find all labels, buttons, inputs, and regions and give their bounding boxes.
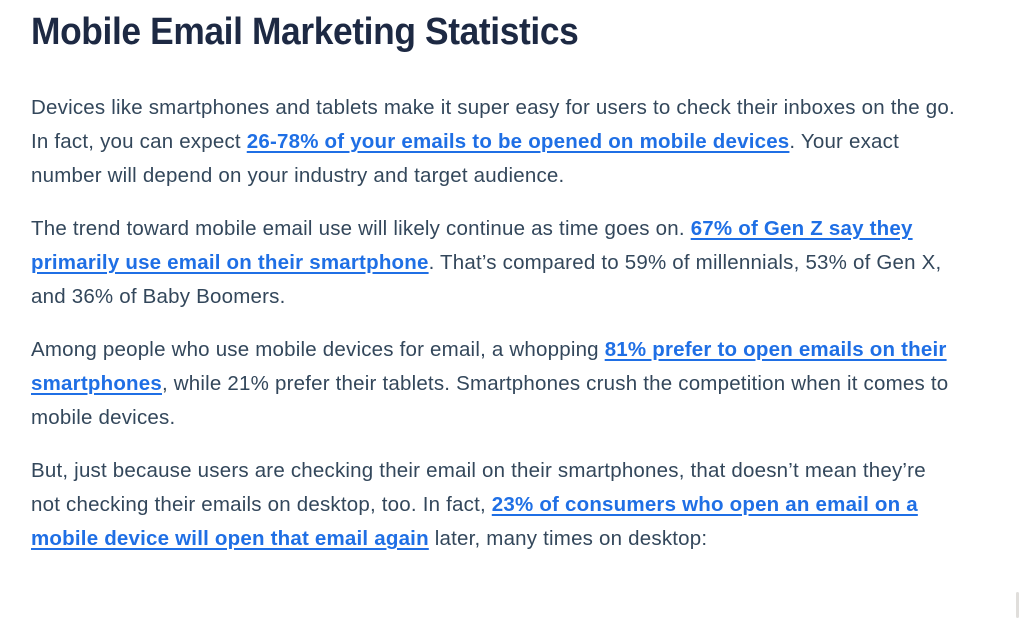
link-mobile-open-rate[interactable]: 26-78% of your emails to be opened on mo…: [247, 130, 790, 153]
paragraph-3-text-before: Among people who use mobile devices for …: [31, 338, 605, 361]
page-title: Mobile Email Marketing Statistics: [31, 0, 917, 60]
paragraph-2: The trend toward mobile email use will l…: [31, 212, 956, 314]
paragraph-3-text-after: , while 21% prefer their tablets. Smartp…: [31, 372, 948, 429]
paragraph-3: Among people who use mobile devices for …: [31, 333, 956, 435]
paragraph-4-text-after: later, many times on desktop:: [429, 527, 707, 550]
paragraph-2-text-before: The trend toward mobile email use will l…: [31, 217, 691, 240]
article-container: Mobile Email Marketing Statistics Device…: [0, 0, 1024, 618]
scrollbar-thumb[interactable]: [1016, 592, 1019, 618]
paragraph-1: Devices like smartphones and tablets mak…: [31, 91, 956, 193]
paragraph-4: But, just because users are checking the…: [31, 454, 956, 556]
